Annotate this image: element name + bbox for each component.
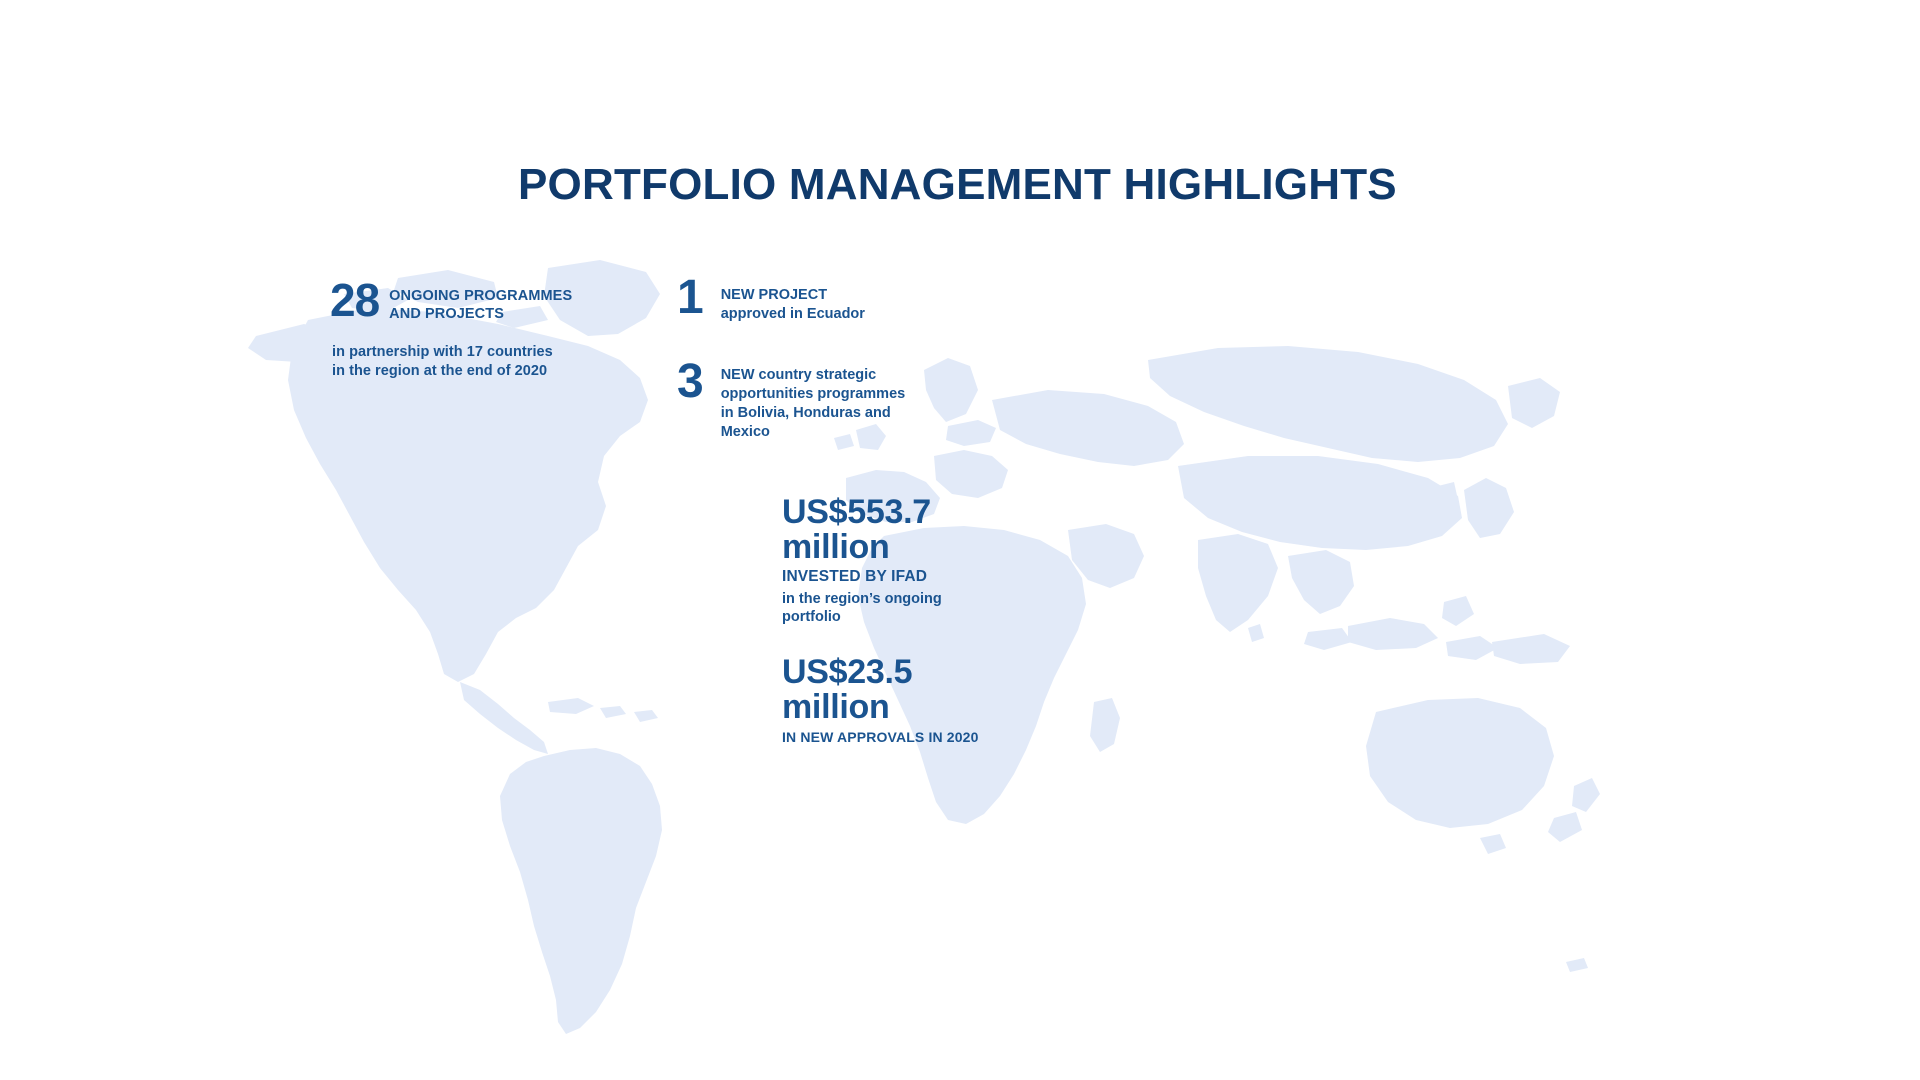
stat-new-project-number: 1 <box>677 276 703 320</box>
page-title: PORTFOLIO MANAGEMENT HIGHLIGHTS <box>518 160 1418 211</box>
stat-new-approvals: US$23.5 million IN NEW APPROVALS IN 2020 <box>782 655 979 746</box>
stat-cosop: 3 NEW country strategic opportunities pr… <box>677 362 905 441</box>
stat-ongoing-caption: ONGOING PROGRAMMES AND PROJECTS <box>389 282 572 323</box>
infographic-canvas: PORTFOLIO MANAGEMENT HIGHLIGHTS 28 ONGOI… <box>0 0 1920 1080</box>
stat-cosop-caption: NEW country strategic opportunities prog… <box>721 362 906 441</box>
stat-invested-unit: million <box>782 530 942 565</box>
stat-cosop-caption-line2: opportunities programmes <box>721 385 906 404</box>
stat-ongoing-number: 28 <box>330 279 379 321</box>
stat-new-project: 1 NEW PROJECT approved in Ecuador <box>677 280 865 324</box>
stat-cosop-number: 3 <box>677 360 703 404</box>
stat-ongoing-subtext-line2: in the region at the end of 2020 <box>332 362 553 381</box>
stat-approvals-label: IN NEW APPROVALS IN 2020 <box>782 729 979 746</box>
stat-invested-amount: US$553.7 <box>782 495 942 530</box>
stat-new-project-caption-line1: NEW PROJECT <box>721 286 865 305</box>
stat-ongoing-row: 28 ONGOING PROGRAMMES AND PROJECTS <box>330 282 572 324</box>
stat-approvals-unit: million <box>782 690 979 725</box>
stat-cosop-row: 3 NEW country strategic opportunities pr… <box>677 362 905 441</box>
stat-cosop-caption-line1: NEW country strategic <box>721 366 906 385</box>
stat-new-project-caption: NEW PROJECT approved in Ecuador <box>721 280 865 324</box>
stat-invested-subtext-line1: in the region’s ongoing <box>782 590 942 608</box>
stat-ongoing-programmes: 28 ONGOING PROGRAMMES AND PROJECTS <box>330 282 572 324</box>
stat-invested-subtext-line2: portfolio <box>782 608 942 626</box>
stat-ongoing-caption-line1: ONGOING PROGRAMMES <box>389 288 572 306</box>
stat-ongoing-subtext: in partnership with 17 countries in the … <box>332 343 553 381</box>
stat-invested-subtext: in the region’s ongoing portfolio <box>782 590 942 626</box>
stat-ongoing-caption-line2: AND PROJECTS <box>389 306 572 324</box>
stat-new-project-row: 1 NEW PROJECT approved in Ecuador <box>677 280 865 324</box>
stat-approvals-amount: US$23.5 <box>782 655 979 690</box>
stat-cosop-caption-line4: Mexico <box>721 423 906 442</box>
stat-ongoing-subtext-line1: in partnership with 17 countries <box>332 343 553 362</box>
stat-cosop-caption-line3: in Bolivia, Honduras and <box>721 404 906 423</box>
stat-invested-by-ifad: US$553.7 million INVESTED BY IFAD in the… <box>782 495 942 626</box>
stat-new-project-caption-line2: approved in Ecuador <box>721 305 865 324</box>
stat-invested-label: INVESTED BY IFAD <box>782 568 942 587</box>
